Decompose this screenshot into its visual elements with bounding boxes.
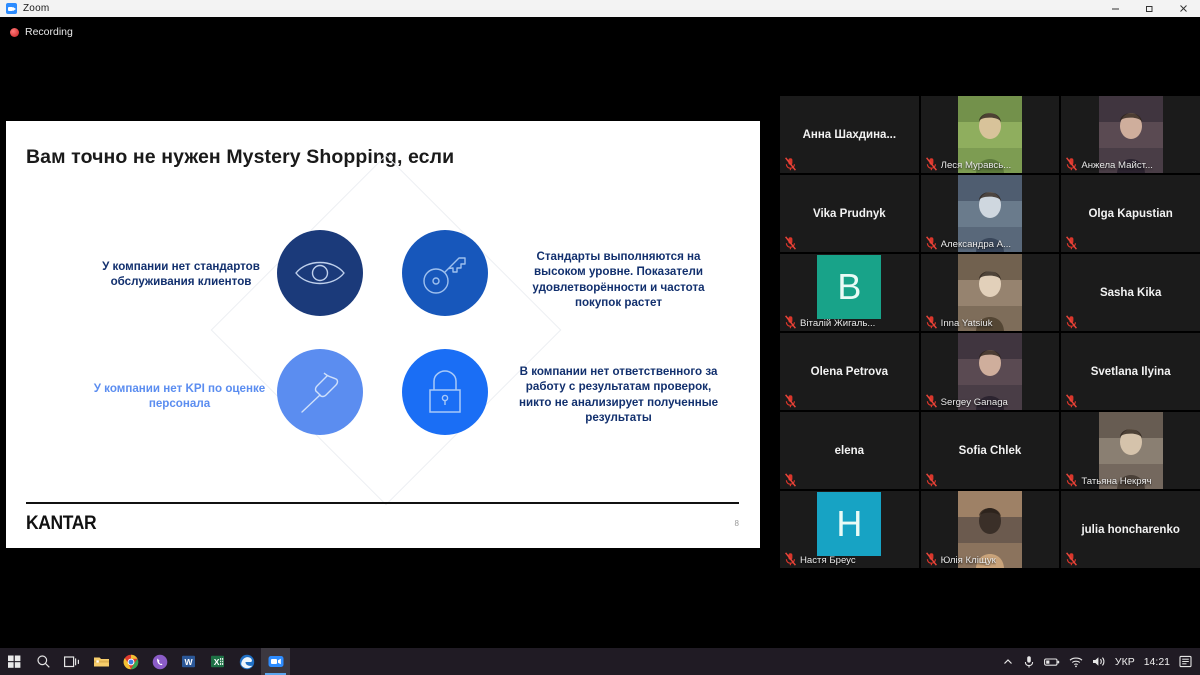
mic-muted-icon: [784, 394, 797, 408]
participant-name: Sasha Kika: [1094, 287, 1167, 299]
eye-icon: [293, 255, 347, 291]
participant-name: Александра А...: [941, 239, 1011, 250]
record-dot-icon: [10, 28, 19, 37]
task-view-icon[interactable]: [58, 648, 87, 675]
chrome-icon[interactable]: [116, 648, 145, 675]
participant-name: Анжела Майст...: [1081, 160, 1153, 171]
participant-name: Olga Kapustian: [1082, 208, 1178, 220]
circle-lock: [402, 349, 488, 435]
file-explorer-icon[interactable]: [87, 648, 116, 675]
mic-muted-icon: [784, 473, 797, 487]
recording-indicator[interactable]: Recording: [10, 26, 73, 38]
diamond-outline: [211, 155, 562, 506]
slide-divider: [26, 502, 739, 504]
mic-muted-icon: [1065, 315, 1078, 329]
mic-muted-icon: [784, 236, 797, 250]
mic-muted-icon: [1065, 552, 1078, 566]
participant-tile[interactable]: Sofia Chlek: [921, 412, 1060, 489]
participant-tile[interactable]: Леся Муравсь...: [921, 96, 1060, 173]
mic-muted-icon: [1065, 473, 1078, 487]
slide-page-number: 8: [735, 519, 739, 528]
mic-muted-icon: [925, 394, 938, 408]
edge-icon[interactable]: [232, 648, 261, 675]
participant-tile[interactable]: Анжела Майст...: [1061, 96, 1200, 173]
key-icon: [420, 248, 470, 298]
brand-logo: KANTAR: [26, 513, 96, 535]
mic-muted-icon: [1065, 157, 1078, 171]
circle-key: [402, 230, 488, 316]
participant-name: Анна Шахдина...: [797, 129, 902, 141]
participant-tile[interactable]: Н Настя Бреус: [780, 491, 919, 568]
participant-tile[interactable]: julia honcharenko: [1061, 491, 1200, 568]
volume-icon[interactable]: [1092, 655, 1106, 668]
participant-tile[interactable]: elena: [780, 412, 919, 489]
mic-muted-icon: [784, 552, 797, 566]
mic-muted-icon: [784, 315, 797, 329]
participant-tile[interactable]: Юлія Кліщук: [921, 491, 1060, 568]
system-tray: УКР 14:21: [1002, 655, 1200, 669]
lock-icon: [422, 368, 468, 416]
windows-taskbar: W X: [0, 648, 1200, 675]
participant-name: elena: [829, 445, 870, 457]
wifi-icon[interactable]: [1069, 656, 1083, 668]
caption-bottom-left: У компании нет KPI по оценке персонала: [82, 381, 277, 412]
participant-name: Татьяна Некряч: [1081, 476, 1151, 487]
svg-text:W: W: [184, 657, 193, 667]
pin-icon: [294, 366, 346, 418]
zoom-app-window: Zoom Recording Вам точно не нужен Mys: [0, 0, 1200, 675]
slide-diagram: У компании нет стандартов обслуживания к…: [6, 199, 760, 489]
microphone-icon[interactable]: [1023, 655, 1035, 669]
participant-tile[interactable]: Svetlana Ilyina: [1061, 333, 1200, 410]
window-title: Zoom: [23, 3, 49, 14]
maximize-button[interactable]: [1132, 0, 1166, 17]
battery-icon[interactable]: [1044, 656, 1060, 668]
participant-name: Sofia Chlek: [953, 445, 1028, 457]
participant-name: Vika Prudnyk: [807, 208, 892, 220]
avatar-initial: В: [817, 255, 881, 319]
participant-tile[interactable]: Olena Petrova: [780, 333, 919, 410]
participant-grid: Анна Шахдина... Леся Муравсь... Анжела М…: [780, 96, 1200, 568]
clock[interactable]: 14:21: [1144, 656, 1170, 668]
svg-text:X: X: [214, 657, 220, 667]
excel-icon[interactable]: X: [203, 648, 232, 675]
show-hidden-icons-icon[interactable]: [1002, 656, 1014, 668]
mic-muted-icon: [925, 552, 938, 566]
mic-muted-icon: [784, 157, 797, 171]
zoom-taskbar-icon[interactable]: [261, 648, 290, 675]
mic-muted-icon: [925, 473, 938, 487]
participant-tile[interactable]: Анна Шахдина...: [780, 96, 919, 173]
participant-name: Юлія Кліщук: [941, 555, 996, 566]
participant-tile[interactable]: Татьяна Некряч: [1061, 412, 1200, 489]
minimize-button[interactable]: [1098, 0, 1132, 17]
participant-tile[interactable]: В Віталій Жигаль...: [780, 254, 919, 331]
mic-muted-icon: [925, 157, 938, 171]
search-icon[interactable]: [29, 648, 58, 675]
mic-muted-icon: [925, 236, 938, 250]
action-center-icon[interactable]: [1179, 655, 1192, 668]
participant-name: Inna Yatsiuk: [941, 318, 993, 329]
circle-eye: [277, 230, 363, 316]
circle-pin: [277, 349, 363, 435]
viber-icon[interactable]: [145, 648, 174, 675]
participant-name: Віталій Жигаль...: [800, 318, 875, 329]
start-button-icon[interactable]: [0, 648, 29, 675]
participant-tile[interactable]: Александра А...: [921, 175, 1060, 252]
caption-top-right: Стандарты выполняются на высоком уровне.…: [511, 249, 726, 310]
shared-slide: Вам точно не нужен Mystery Shopping, есл…: [6, 121, 760, 548]
mic-muted-icon: [1065, 394, 1078, 408]
participant-name: Sergey Ganaga: [941, 397, 1008, 408]
participant-tile[interactable]: Sasha Kika: [1061, 254, 1200, 331]
word-icon[interactable]: W: [174, 648, 203, 675]
window-controls: [1098, 0, 1200, 17]
caption-top-left: У компании нет стандартов обслуживания к…: [86, 259, 276, 290]
zoom-icon: [6, 3, 17, 14]
participant-name: Svetlana Ilyina: [1085, 366, 1177, 378]
participant-tile[interactable]: Olga Kapustian: [1061, 175, 1200, 252]
participant-tile[interactable]: Vika Prudnyk: [780, 175, 919, 252]
close-button[interactable]: [1166, 0, 1200, 17]
window-titlebar: Zoom: [0, 0, 1200, 17]
participant-name: julia honcharenko: [1075, 524, 1185, 536]
mic-muted-icon: [1065, 236, 1078, 250]
language-indicator[interactable]: УКР: [1115, 656, 1135, 668]
participant-tile[interactable]: Sergey Ganaga: [921, 333, 1060, 410]
recording-label: Recording: [25, 26, 73, 38]
participant-name: Леся Муравсь...: [941, 160, 1012, 171]
participant-name: Настя Бреус: [800, 555, 856, 566]
avatar-initial: Н: [817, 492, 881, 556]
participant-tile[interactable]: Inna Yatsiuk: [921, 254, 1060, 331]
caption-bottom-right: В компании нет ответственного за работу …: [511, 364, 726, 425]
mic-muted-icon: [925, 315, 938, 329]
participant-name: Olena Petrova: [805, 366, 894, 378]
